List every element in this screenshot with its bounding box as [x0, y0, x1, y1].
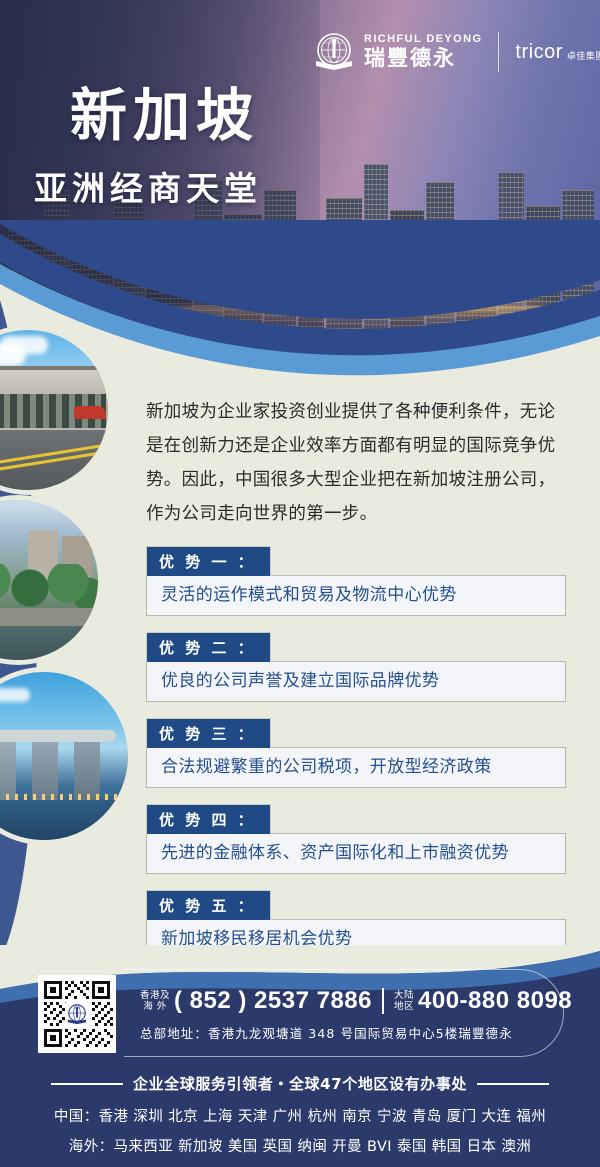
phone-divider: [382, 988, 384, 1014]
hk-region-label-line2: 海 外: [140, 1001, 170, 1012]
advantage-tab-5: 优 势 五 ：: [146, 890, 271, 920]
advantage-text-1: 灵活的运作模式和贸易及物流中心优势: [146, 575, 566, 616]
advantage-item-3: 优 势 三 ： 合法规避繁重的公司税项，开放型经济政策: [146, 718, 566, 788]
head-office-address: 总部地址：香港九龙观塘道 348 号国际贸易中心5楼瑞豐德永: [140, 1023, 513, 1042]
slogan-rule-right: [477, 1083, 549, 1085]
poster-root: RICHFUL DEYONG 瑞豐德永 tricor 卓佳集團成員 新加坡 亚洲…: [0, 0, 600, 1167]
advantage-list: 优 势 一 ： 灵活的运作模式和贸易及物流中心优势 优 势 二 ： 优良的公司声…: [146, 546, 566, 976]
cn-phone-number[interactable]: 400-880 8098: [418, 987, 572, 1015]
cn-region-label: 大陆 地区: [394, 990, 414, 1012]
locations-overseas: 海外：马来西亚 新加坡 美国 英国 纳闽 开曼 BVI 泰国 韩国 日本 澳洲: [0, 1135, 600, 1156]
advantage-text-3: 合法规避繁重的公司税项，开放型经济政策: [146, 747, 566, 788]
slogan-row: 企业全球服务引领者・全球47个地区设有办事处: [0, 1073, 600, 1094]
phone-row: 香港及 海 外 ( 852 ) 2537 7886 大陆 地区 400-880 …: [140, 987, 572, 1015]
singapore-shophouse-street-photo: [0, 330, 108, 490]
singapore-waterfront-trees-photo: [0, 500, 98, 660]
advantage-tab-3: 优 势 三 ：: [146, 718, 271, 748]
qr-center-logo-icon: [65, 1002, 89, 1026]
advantage-tab-4: 优 势 四 ：: [146, 804, 271, 834]
advantage-item-2: 优 势 二 ： 优良的公司声誉及建立国际品牌优势: [146, 632, 566, 702]
partner-subtitle: 卓佳集團成員: [567, 49, 600, 62]
brand-name-en: RICHFUL DEYONG: [364, 33, 482, 45]
cn-region-label-line2: 地区: [394, 1001, 414, 1012]
slogan-rule-left: [51, 1083, 123, 1085]
contact-block: 香港及 海 外 ( 852 ) 2537 7886 大陆 地区 400-880 …: [0, 973, 600, 1055]
richful-deyong-crest-icon: [312, 30, 356, 74]
page-title: 新加坡: [70, 86, 259, 146]
advantage-tab-2: 优 势 二 ：: [146, 632, 271, 662]
hk-region-label-line1: 香港及: [140, 990, 170, 1001]
marina-bay-sands-photo: [0, 672, 128, 840]
cn-region-label-line1: 大陆: [394, 990, 414, 1001]
page-subtitle: 亚洲经商天堂: [34, 170, 262, 208]
slogan-text: 企业全球服务引领者・全球47个地区设有办事处: [133, 1073, 467, 1094]
partner-name: tricor: [515, 42, 562, 62]
hk-region-label: 香港及 海 外: [140, 990, 170, 1012]
hero-banner: RICHFUL DEYONG 瑞豐德永 tricor 卓佳集團成員 新加坡 亚洲…: [0, 0, 600, 340]
advantage-tab-1: 优 势 一 ：: [146, 546, 271, 576]
brand-divider: [498, 32, 499, 72]
hk-phone-number[interactable]: ( 852 ) 2537 7886: [174, 987, 372, 1015]
brand-lockup: RICHFUL DEYONG 瑞豐德永 tricor 卓佳集團成員: [312, 30, 600, 74]
brand-name-cn: 瑞豐德永: [364, 47, 482, 71]
advantage-text-4: 先进的金融体系、资产国际化和上市融资优势: [146, 833, 566, 874]
advantage-item-1: 优 势 一 ： 灵活的运作模式和贸易及物流中心优势: [146, 546, 566, 616]
locations-china: 中国：香港 深圳 北京 上海 天津 广州 杭州 南京 宁波 青岛 厦门 大连 福…: [0, 1105, 600, 1126]
footer: 香港及 海 外 ( 852 ) 2537 7886 大陆 地区 400-880 …: [0, 945, 600, 1167]
advantage-text-2: 优良的公司声誉及建立国际品牌优势: [146, 661, 566, 702]
advantage-item-4: 优 势 四 ： 先进的金融体系、资产国际化和上市融资优势: [146, 804, 566, 874]
intro-paragraph: 新加坡为企业家投资创业提供了各种便利条件，无论是在创新力还是企业效率方面都有明显…: [146, 395, 566, 531]
qr-code-icon[interactable]: [38, 975, 116, 1053]
